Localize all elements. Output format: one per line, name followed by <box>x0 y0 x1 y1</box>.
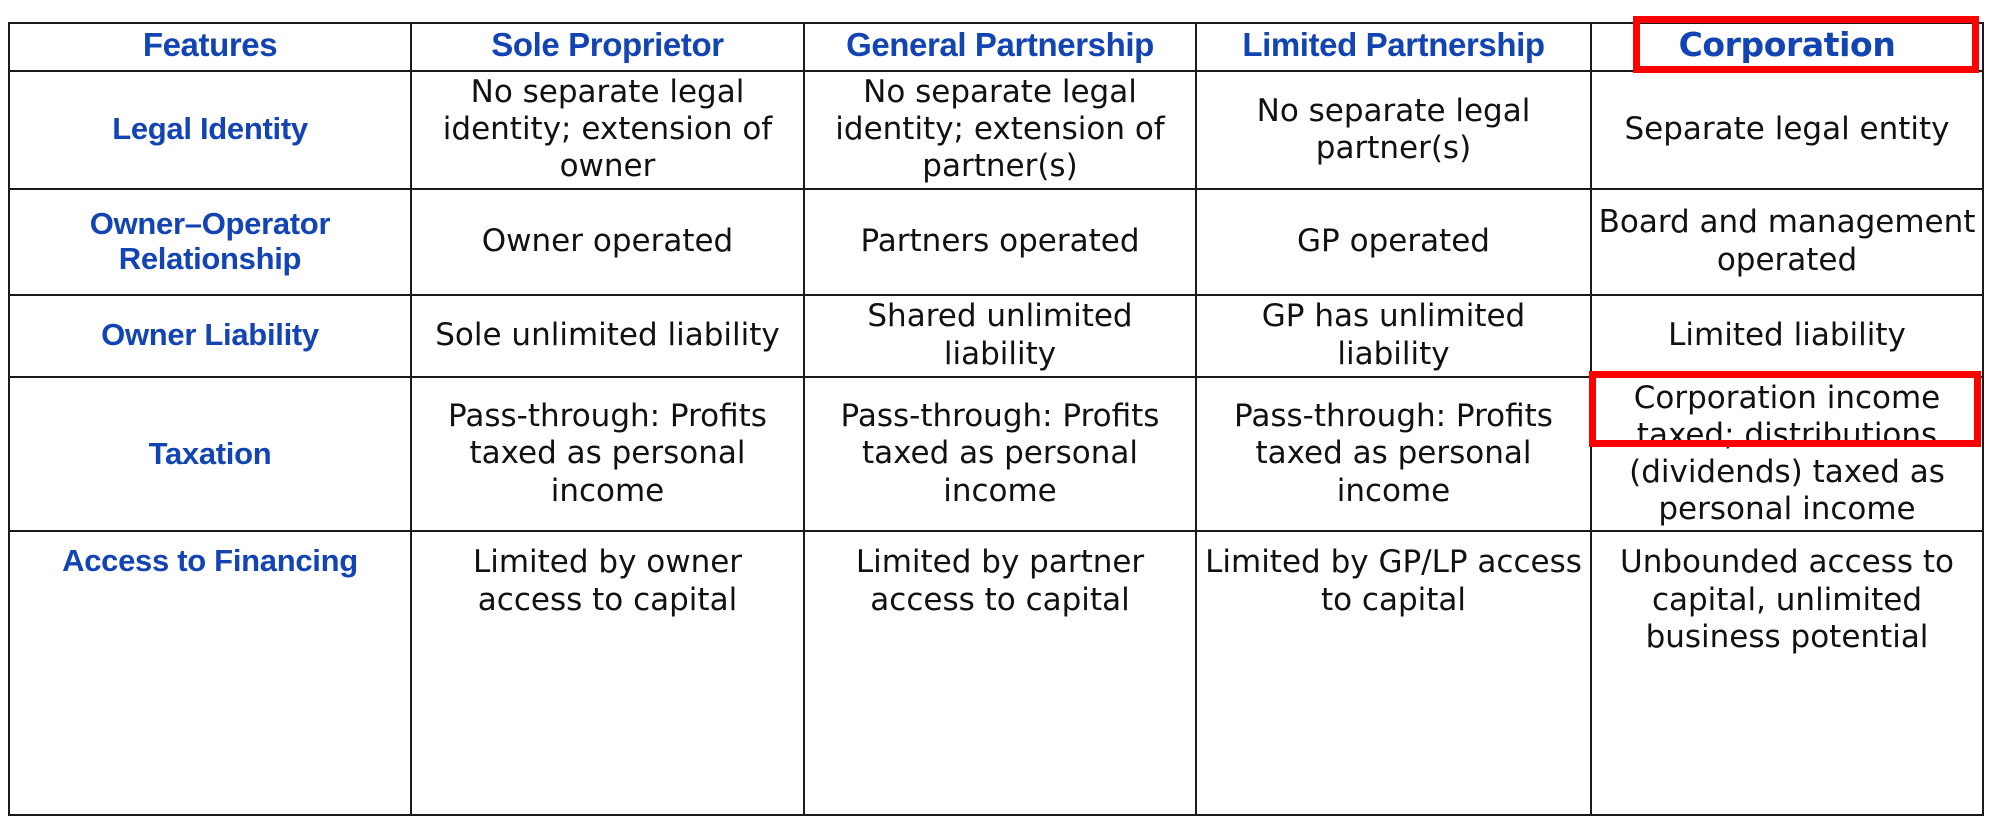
cell-taxation-sole-proprietor: Pass-through: Profits taxed as personal … <box>411 377 804 532</box>
cell-owner-liability-general-partnership: Shared unlimited liability <box>804 295 1196 377</box>
cell-access-financing-general-partnership: Limited by partner access to capital <box>804 531 1196 815</box>
cell-access-financing-limited-partnership: Limited by GP/LP access to capital <box>1196 531 1591 815</box>
row-label-owner-operator-relationship: Owner–Operator Relationship <box>9 189 411 295</box>
column-header-general-partnership: General Partnership <box>804 23 1196 71</box>
cell-owner-operator-sole-proprietor: Owner operated <box>411 189 804 295</box>
cell-access-financing-sole-proprietor: Limited by owner access to capital <box>411 531 804 815</box>
cell-access-financing-corporation: Unbounded access to capital, unlimited b… <box>1591 531 1983 815</box>
row-label-taxation: Taxation <box>9 377 411 532</box>
entity-comparison-table: Features Sole Proprietor General Partner… <box>8 22 1984 816</box>
cell-owner-liability-corporation: Limited liability <box>1591 295 1983 377</box>
cell-owner-liability-limited-partnership: GP has unlimited liability <box>1196 295 1591 377</box>
row-label-access-to-financing: Access to Financing <box>9 531 411 815</box>
cell-owner-operator-corporation: Board and management operated <box>1591 189 1983 295</box>
document-canvas: Features Sole Proprietor General Partner… <box>0 0 2000 832</box>
cell-legal-identity-corporation: Separate legal entity <box>1591 71 1983 189</box>
table-header-row: Features Sole Proprietor General Partner… <box>9 23 1983 71</box>
column-header-sole-proprietor: Sole Proprietor <box>411 23 804 71</box>
row-label-owner-liability: Owner Liability <box>9 295 411 377</box>
cell-legal-identity-general-partnership: No separate legal identity; extension of… <box>804 71 1196 189</box>
table-row: Owner–Operator Relationship Owner operat… <box>9 189 1983 295</box>
cell-legal-identity-limited-partnership: No separate legal partner(s) <box>1196 71 1591 189</box>
column-header-features: Features <box>9 23 411 71</box>
cell-owner-operator-limited-partnership: GP operated <box>1196 189 1591 295</box>
table-row: Legal Identity No separate legal identit… <box>9 71 1983 189</box>
cell-owner-operator-general-partnership: Partners operated <box>804 189 1196 295</box>
table-row: Access to Financing Limited by owner acc… <box>9 531 1983 815</box>
table-row: Taxation Pass-through: Profits taxed as … <box>9 377 1983 532</box>
column-header-corporation: Corporation <box>1591 23 1983 71</box>
column-header-limited-partnership: Limited Partnership <box>1196 23 1591 71</box>
cell-taxation-corporation: Corporation income taxed; distributions … <box>1591 377 1983 532</box>
cell-taxation-limited-partnership: Pass-through: Profits taxed as personal … <box>1196 377 1591 532</box>
cell-legal-identity-sole-proprietor: No separate legal identity; extension of… <box>411 71 804 189</box>
row-label-legal-identity: Legal Identity <box>9 71 411 189</box>
cell-taxation-general-partnership: Pass-through: Profits taxed as personal … <box>804 377 1196 532</box>
cell-owner-liability-sole-proprietor: Sole unlimited liability <box>411 295 804 377</box>
table-row: Owner Liability Sole unlimited liability… <box>9 295 1983 377</box>
